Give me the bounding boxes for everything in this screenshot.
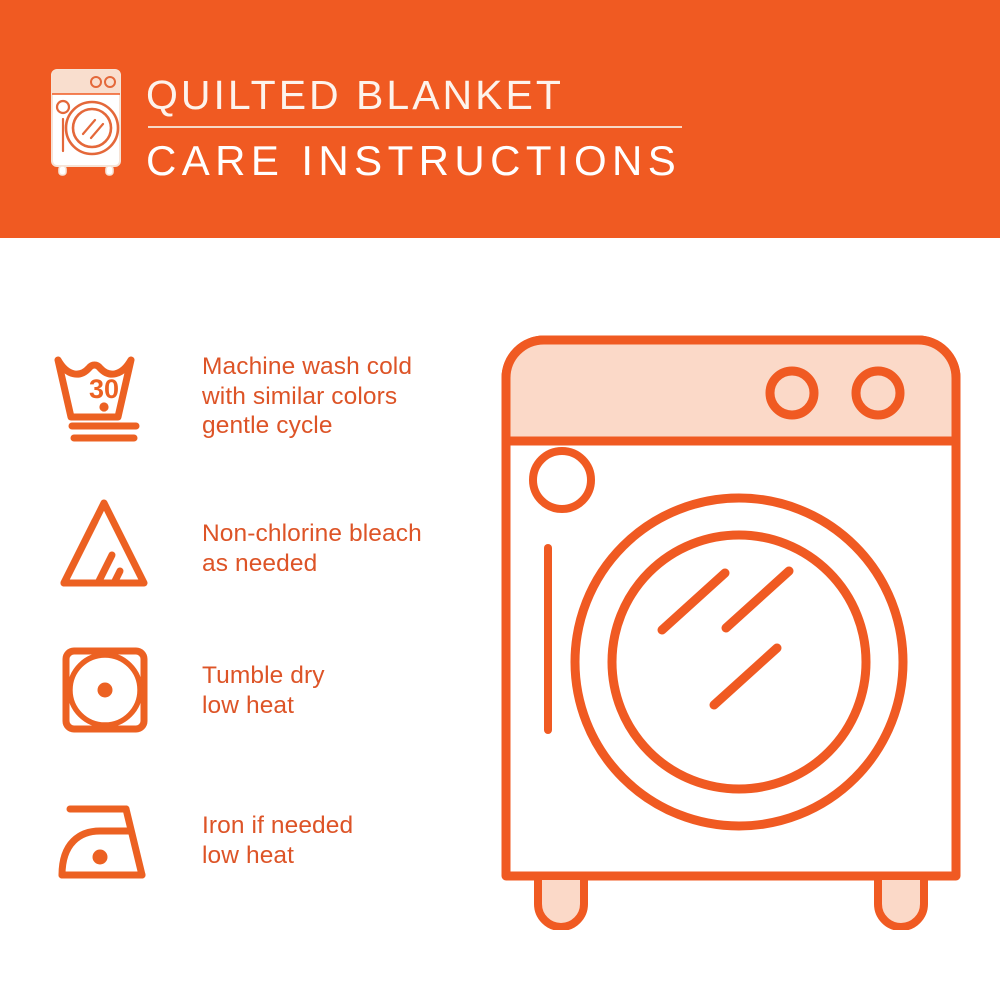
care-item-label: Tumble dry low heat	[164, 643, 325, 720]
care-item-label: Non-chlorine bleach as needed	[164, 495, 422, 578]
care-item-tumble-dry: Tumble dry low heat	[52, 643, 472, 739]
header-banner: QUILTED BLANKET CARE INSTRUCTIONS	[0, 0, 1000, 238]
page-title-line1: QUILTED BLANKET	[146, 72, 846, 118]
care-item-machine-wash: 30 Machine wash cold with similar colors…	[52, 350, 472, 446]
machine-leg-left	[538, 876, 584, 927]
wash-temperature-value: 30	[89, 374, 119, 404]
machine-control-panel	[506, 340, 956, 441]
care-instructions-list: 30 Machine wash cold with similar colors…	[0, 238, 500, 1000]
page-title-line2: CARE INSTRUCTIONS	[146, 137, 846, 185]
front-load-washing-machine-illustration	[496, 330, 966, 930]
machine-leg-right	[878, 876, 924, 927]
non-chlorine-bleach-triangle-icon	[52, 495, 164, 591]
care-item-bleach: Non-chlorine bleach as needed	[52, 495, 472, 591]
care-item-label: Iron if needed low heat	[164, 795, 353, 870]
tumble-dry-low-heat-icon	[52, 643, 164, 739]
title-divider	[148, 126, 682, 128]
iron-low-heat-icon	[52, 795, 164, 891]
care-instructions-page: QUILTED BLANKET CARE INSTRUCTIONS 30 Mac…	[0, 0, 1000, 1000]
care-item-label: Machine wash cold with similar colors ge…	[164, 350, 412, 441]
care-item-iron: Iron if needed low heat	[52, 795, 472, 891]
machine-wash-30-basin-icon: 30	[52, 350, 164, 446]
washing-machine-icon	[46, 66, 132, 178]
header-title-block: QUILTED BLANKET CARE INSTRUCTIONS	[146, 72, 846, 185]
